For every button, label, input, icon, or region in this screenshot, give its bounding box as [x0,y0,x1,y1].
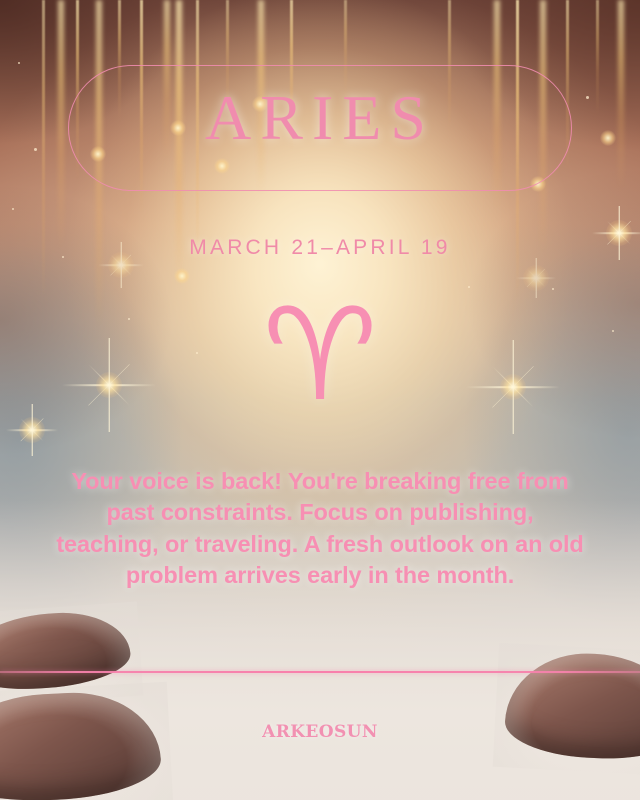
brand-mark: ARKEOSUN [0,722,640,742]
date-range-label: MARCH 21–APRIL 19 [0,236,640,260]
poster-content: ARIES MARCH 21–APRIL 19 ♈ Your voice is … [0,0,640,800]
aries-ram-symbol-icon: ♈ [0,292,640,420]
zodiac-poster: ARIES MARCH 21–APRIL 19 ♈ Your voice is … [0,0,640,800]
horoscope-body-text: Your voice is back! You're breaking free… [56,466,584,592]
page-title: ARIES [0,86,640,150]
footer-divider [0,671,640,673]
